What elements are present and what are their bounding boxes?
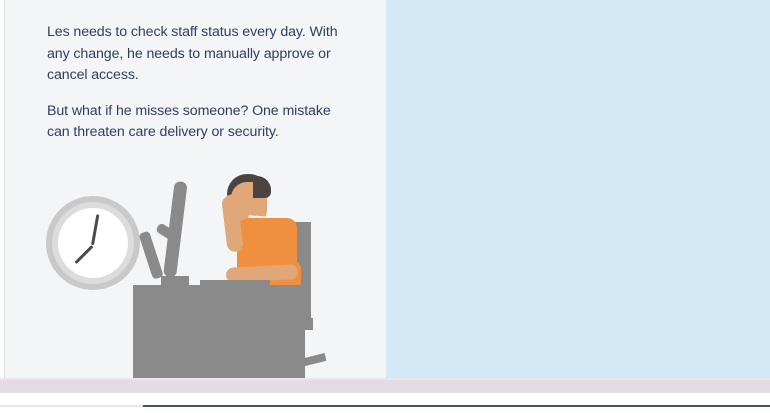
illustration-stage: Les needs to check staff status every da…	[0, 0, 770, 413]
footer-rule-dark	[143, 405, 770, 407]
footer-whitespace	[0, 393, 770, 413]
left-panel-copy: Les needs to check staff status every da…	[47, 22, 352, 144]
left-desk-body	[133, 292, 305, 380]
left-paragraph-2: But what if he misses someone? One mista…	[47, 101, 352, 144]
panel-manual-access: Les needs to check staff status every da…	[5, 0, 386, 393]
les-hair-back	[253, 176, 271, 198]
floor-strip	[0, 380, 770, 393]
left-paragraph-1: Les needs to check staff status every da…	[47, 22, 352, 87]
left-monitor-stand	[138, 231, 163, 280]
panel-automated-access: Max relies on role-based access controls…	[386, 0, 770, 393]
footer-rule-light	[0, 405, 143, 407]
